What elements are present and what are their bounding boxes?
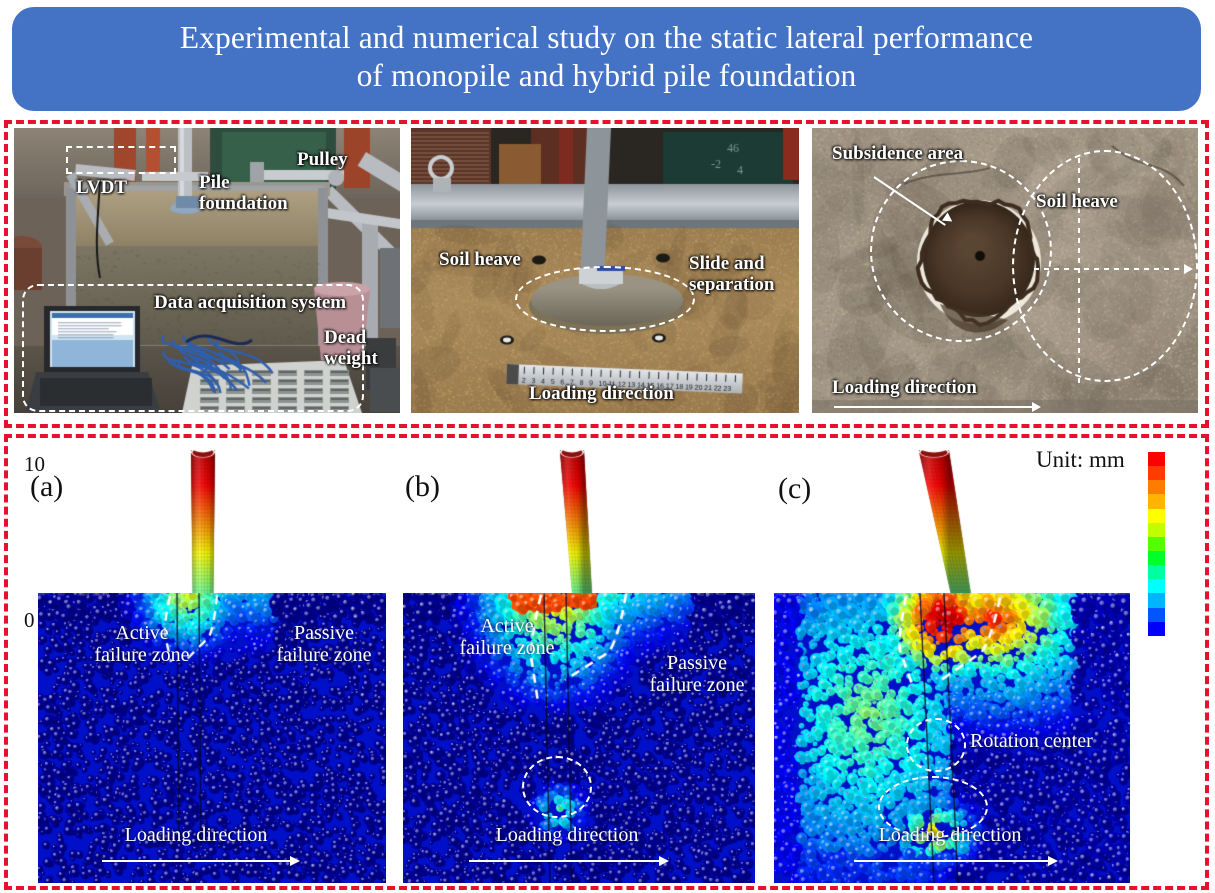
dem-panel-a-active-failure-zone-label: Active failure zone [72,622,212,666]
photo2-label-soil-heave: Soil heave [439,250,521,271]
photo3-loading-direction-line [834,406,1034,408]
colorbar-band-11 [1148,608,1165,622]
colorbar-band-3 [1148,494,1165,508]
colorbar-band-5 [1148,523,1165,537]
colorbar-band-10 [1148,593,1165,607]
dem-panel-a-loading-direction-arrow-line [102,860,292,862]
colorbar-band-1 [1148,466,1165,480]
dem-panel-b-toe-rotation-circle [522,756,592,818]
colorbar-band-12 [1148,622,1165,636]
page-title-line-1: Experimental and numerical study on the … [180,20,1033,55]
dem-panel-a-loading-direction-arrow-head [290,856,300,866]
photo3-label-loading-direction: Loading direction [832,378,977,399]
dem-panel-b-label: (b) [405,470,440,504]
dem-panel-b-active-failure-zone-label: Active failure zone [437,615,577,659]
dem-panel-c: (c) Rotation center Loading direction [760,440,1160,886]
colorbar-band-2 [1148,480,1165,494]
photo3-label-subsidence-area: Subsidence area [832,144,963,165]
photo-model-test-setup: LVDT Pulley Pile foundation Data acquisi… [14,128,400,413]
lvdt-dashed-marker [66,146,176,174]
photo1-label-pulley: Pulley [297,150,348,171]
photo3-loading-direction-arrow [1032,402,1041,412]
dem-panel-b: (b) Active failure zone Passive failure … [389,440,775,886]
soil-heave-axis-arrow [1184,264,1193,274]
page-title-line-2: of monopile and hybrid pile foundation [357,58,857,93]
dem-panel-c-rotation-center-label: Rotation center [970,730,1150,752]
colorbar-band-8 [1148,565,1165,579]
dem-panel-b-passive-failure-zone-label: Passive failure zone [627,652,767,696]
graphical-abstract: Experimental and numerical study on the … [0,0,1215,893]
soil-heave-axis-horizontal [1034,268,1186,270]
dem-panel-a: (a) Active failure zone Passive failure … [14,440,400,886]
dem-panel-c-loading-direction-arrow-line [854,860,1050,862]
dem-panel-a-loading-direction-label: Loading direction [96,824,296,846]
dem-panel-c-label: (c) [778,472,811,506]
dem-panel-c-rotation-center-circle [906,718,966,772]
photo1-label-lvdt: LVDT [76,178,127,199]
soil-heave-dashed-ellipse [515,266,695,332]
photo-post-test-crater: Subsidence area Soil heave Loading direc… [812,128,1198,413]
photo2-label-slide-and-separation: Slide and separation [689,254,775,295]
dem-panel-b-loading-direction-label: Loading direction [467,824,667,846]
colorbar-band-7 [1148,551,1165,565]
dem-panel-a-passive-failure-zone-label: Passive failure zone [254,622,394,666]
colorbar-max-tick-label: 10 [24,452,45,477]
dem-panel-b-loading-direction-arrow-line [469,860,661,862]
displacement-colorbar [1148,452,1165,636]
colorbar-band-9 [1148,579,1165,593]
photo3-label-soil-heave: Soil heave [1036,192,1118,213]
page-title-banner: Experimental and numerical study on the … [12,7,1201,111]
colorbar-min-tick-label: 0 [24,608,35,633]
colorbar-band-6 [1148,537,1165,551]
colorbar-band-0 [1148,452,1165,466]
photo2-label-loading-direction: Loading direction [529,384,674,405]
soil-heave-dashed-circle [1012,150,1198,382]
page-title: Experimental and numerical study on the … [180,19,1033,96]
photo-pile-head-soil-surface: Soil heave Slide and separation Loading … [411,128,799,413]
colorbar-band-4 [1148,509,1165,523]
dem-panel-c-loading-direction-arrow-head [1048,856,1058,866]
colorbar-unit-label: Unit: mm [1036,447,1125,473]
photo1-label-pile-foundation: Pile foundation [199,173,288,214]
dem-panel-b-loading-direction-arrow-head [659,856,669,866]
photo1-label-dead-weight: Dead weight [324,328,378,369]
dem-panel-c-loading-direction-label: Loading direction [850,824,1050,846]
photo1-label-data-acquisition-system: Data acquisition system [154,293,346,314]
